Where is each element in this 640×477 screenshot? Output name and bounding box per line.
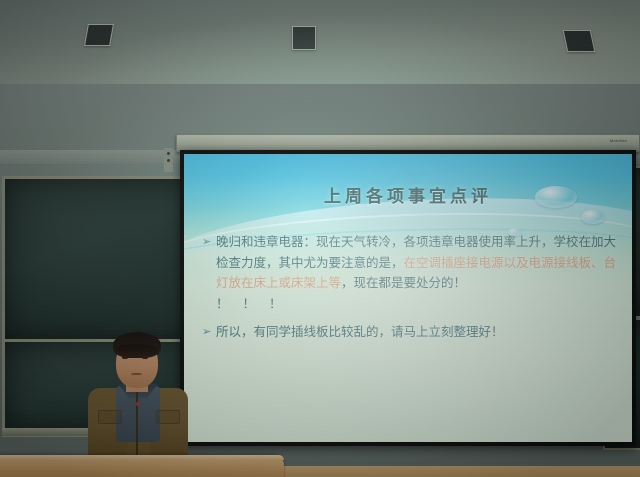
classroom-photo: Mobilize 上周各项事宜点评 ➢ 晚归和违章电器：现在天气转冷，各项违章电… xyxy=(0,0,640,477)
slide-bullet-2: ➢ 所以，有同学插线板比较乱的，请马上立刻整理好！ xyxy=(202,322,618,343)
projection-screen-frame: 上周各项事宜点评 ➢ 晚归和违章电器：现在天气转冷，各项违章电器使用率上升，学校… xyxy=(180,150,636,446)
bullet-1-segment-1: 晚归和违章电器：现在天气转冷，各项违章电器使用率上升，学校在加大检查力度，其中尤… xyxy=(216,234,616,270)
water-wave-graphic-1 xyxy=(184,206,632,260)
screen-bracket-left xyxy=(164,148,173,172)
front-desk xyxy=(270,466,640,477)
podium-top-edge xyxy=(0,455,284,460)
jacket-pocket-left xyxy=(98,410,122,424)
projection-screen: 上周各项事宜点评 ➢ 晚归和违章电器：现在天气转冷，各项违章电器使用率上升，学校… xyxy=(184,154,632,442)
lapel-mic-icon xyxy=(136,402,140,406)
recessed-ceiling-light-1 xyxy=(84,24,114,46)
presenter-mouth xyxy=(131,373,142,375)
ceiling xyxy=(0,0,640,96)
slide-bullet-1-exclamations: ！ ！ ！ xyxy=(216,294,618,315)
slide-bullet-2-text: 所以，有同学插线板比较乱的，请马上立刻整理好！ xyxy=(216,322,618,343)
bullet-arrow-icon-2: ➢ xyxy=(202,322,216,343)
recessed-ceiling-light-3 xyxy=(563,30,596,52)
recessed-ceiling-light-2 xyxy=(292,26,316,50)
presenter-hair xyxy=(113,332,161,358)
presenter-eye-right xyxy=(142,356,148,359)
water-droplet-graphic-3 xyxy=(508,228,522,236)
water-droplet-graphic-1 xyxy=(535,186,577,208)
bullet-arrow-icon: ➢ xyxy=(202,232,216,294)
bullet-1-segment-3: ，现在都是要处分的！ xyxy=(341,275,466,290)
slide-body: ➢ 晚归和违章电器：现在天气转冷，各项违章电器使用率上升，学校在加大检查力度，其… xyxy=(202,232,618,343)
slide-bullet-1: ➢ 晚归和违章电器：现在天气转冷，各项违章电器使用率上升，学校在加大检查力度，其… xyxy=(202,232,618,294)
housing-logo: Mobilize xyxy=(610,138,627,143)
jacket-pocket-right xyxy=(156,410,180,424)
slide-bullet-1-text: 晚归和违章电器：现在天气转冷，各项违章电器使用率上升，学校在加大检查力度，其中尤… xyxy=(216,232,618,294)
water-wave-graphic-2 xyxy=(184,222,632,267)
water-droplet-graphic-2 xyxy=(581,210,605,224)
slide-title: 上周各项事宜点评 xyxy=(184,182,632,207)
standing-presenter xyxy=(86,332,190,464)
presenter-eye-left xyxy=(122,356,128,359)
blackboard-left-upper xyxy=(2,176,198,342)
bullet-1-segment-2-highlight: 在空调插座接电源以及电源接线板、台灯放在床上或床架上等 xyxy=(216,255,616,291)
